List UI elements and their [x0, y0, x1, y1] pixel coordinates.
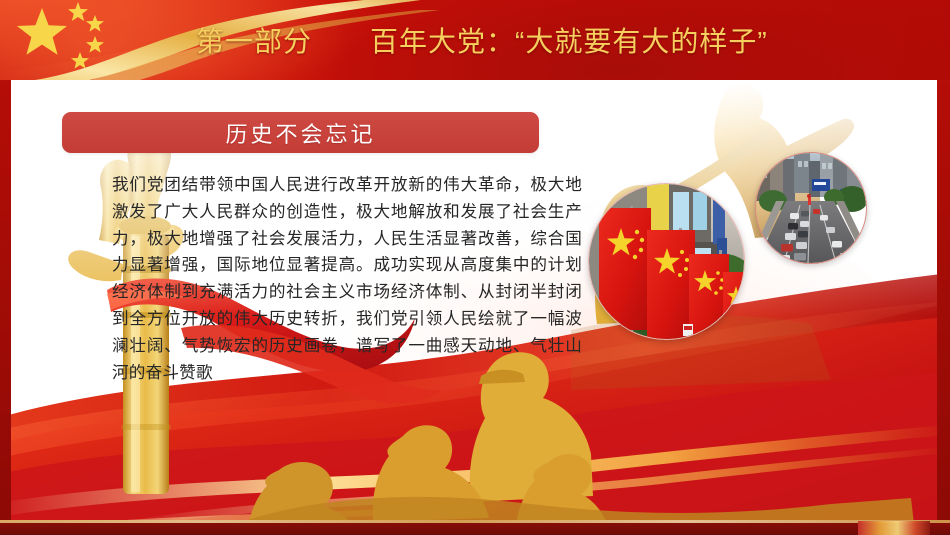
photo-chinese-flags [588, 183, 745, 340]
body-paragraph: 我们党团结带领中国人民进行改革开放新的伟大革命，极大地激发了广大人民群众的创造性… [112, 172, 582, 386]
slide-root: 第一部分 百年大党：“大就要有大的样子” [0, 0, 950, 535]
photo-city-street [755, 152, 867, 264]
right-rail [937, 80, 950, 520]
footer-gold-line [0, 520, 950, 523]
left-rail [0, 80, 11, 520]
photo-chinese-flags-svg [589, 184, 744, 339]
section-banner: 历史不会忘记 [62, 112, 539, 153]
content-card: 历史不会忘记 我们党团结带领中国人民进行改革开放新的伟大革命，极大地激发了广大人… [11, 80, 937, 520]
photo-city-street-svg [756, 153, 866, 263]
header-band: 第一部分 百年大党：“大就要有大的样子” [0, 0, 950, 80]
page-title: 第一部分 百年大党：“大就要有大的样子” [0, 0, 950, 80]
footer-thumbnail [858, 521, 930, 535]
section-banner-label: 历史不会忘记 [225, 117, 375, 149]
